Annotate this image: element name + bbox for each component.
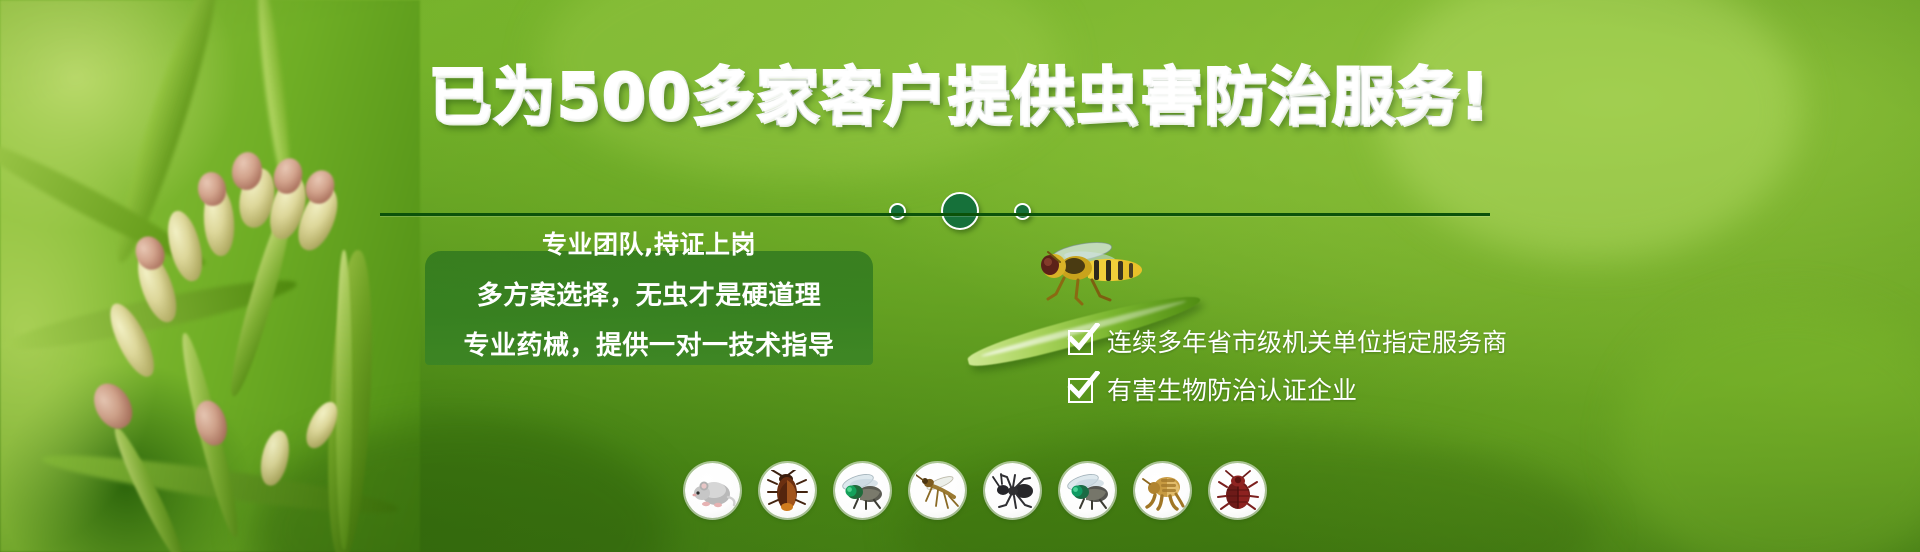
mosquito-icon[interactable]: [910, 463, 965, 518]
decorative-dot-row: [0, 192, 1920, 230]
decorative-dot-large: [941, 192, 979, 230]
flea-icon[interactable]: [1135, 463, 1190, 518]
selling-point-line: 专业药械，提供一对一技术指导: [463, 333, 834, 359]
blowfly-icon[interactable]: [1060, 463, 1115, 518]
list-item: 连续多年省市级机关单位指定服务商: [1068, 330, 1507, 355]
cockroach-icon[interactable]: [760, 463, 815, 518]
checklist-label: 有害生物防治认证企业: [1107, 378, 1357, 403]
page-title: 已为500多家客户提供虫害防治服务!: [0, 66, 1920, 128]
check-box-icon: [1068, 378, 1093, 403]
list-item: 有害生物防治认证企业: [1068, 378, 1507, 403]
checklist-label: 连续多年省市级机关单位指定服务商: [1107, 330, 1507, 355]
bedbug-icon[interactable]: [1210, 463, 1265, 518]
selling-points-list: 专业团队,持证上岗 多方案选择，无虫才是硬道理 专业药械，提供一对一技术指导: [425, 246, 873, 359]
certification-checklist: 连续多年省市级机关单位指定服务商 有害生物防治认证企业: [1068, 330, 1507, 403]
decorative-dot-small: [1014, 203, 1031, 220]
divider: [380, 213, 1490, 216]
pest-control-banner: 已为500多家客户提供虫害防治服务! 专业团队,持证上岗 多方案选择，无虫才是硬…: [0, 0, 1920, 552]
fly-icon[interactable]: [835, 463, 890, 518]
decorative-dot-small: [889, 203, 906, 220]
ant-icon[interactable]: [985, 463, 1040, 518]
rodent-icon[interactable]: [685, 463, 740, 518]
check-box-icon: [1068, 330, 1093, 355]
pest-icon-row: [685, 463, 1265, 518]
headline-text: 已为500多家客户提供虫害防治服务!: [429, 66, 1491, 128]
hoverfly-icon: [1020, 236, 1160, 306]
selling-point-line: 多方案选择，无虫才是硬道理: [477, 283, 822, 309]
selling-point-line: 专业团队,持证上岗: [542, 232, 756, 257]
